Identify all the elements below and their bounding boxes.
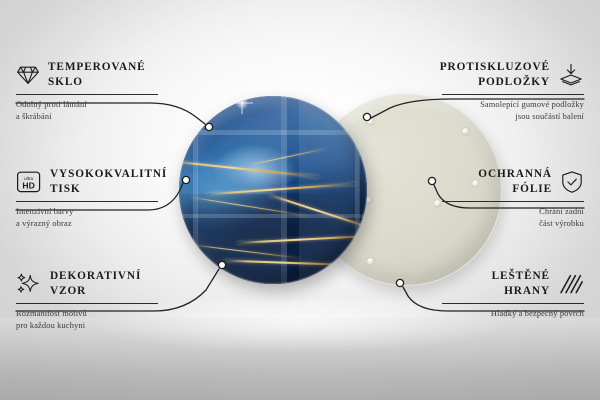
feature-title: LEŠTĚNÉ HRANY	[492, 269, 550, 299]
feature-description: Hladký a bezpečný povrch	[442, 308, 584, 320]
divider	[16, 201, 158, 202]
feature-title: TEMPEROVANÉ SKLO	[48, 60, 146, 90]
feature-header: PROTISKLUZOVÉ PODLOŽKY	[442, 60, 584, 90]
feature-protective-film[interactable]: OCHRANNÁ FÓLIE Chrání zadní část výrobku	[442, 167, 584, 230]
feature-header: TEMPEROVANÉ SKLO	[16, 60, 158, 90]
polished-edges-icon	[558, 272, 584, 296]
feature-header: OCHRANNÁ FÓLIE	[442, 167, 584, 197]
anti-slip-pad-icon	[558, 63, 584, 87]
feature-header: LEŠTĚNÉ HRANY	[442, 269, 584, 299]
sparkles-icon	[16, 272, 42, 296]
feature-anti-slip-pads[interactable]: PROTISKLUZOVÉ PODLOŽKY Samolepící gumové…	[442, 60, 584, 123]
divider	[16, 94, 158, 95]
divider	[16, 303, 158, 304]
feature-description: Odolný proti lámání a škrábání	[16, 99, 158, 123]
feature-title: VYSOKOKVALITNÍ TISK	[50, 167, 167, 197]
feature-header: ultra HD VYSOKOKVALITNÍ TISK	[16, 167, 158, 197]
infographic-canvas: TEMPEROVANÉ SKLO Odolný proti lámání a š…	[0, 0, 600, 400]
feature-decorative-pattern[interactable]: DEKORATIVNÍ VZOR Rozmanitost motivů pro …	[16, 269, 158, 332]
feature-header: DEKORATIVNÍ VZOR	[16, 269, 158, 299]
divider	[442, 303, 584, 304]
feature-title: PROTISKLUZOVÉ PODLOŽKY	[440, 60, 550, 90]
feature-title: DEKORATIVNÍ VZOR	[50, 269, 141, 299]
feature-description: Samolepící gumové podložky jsou součástí…	[442, 99, 584, 123]
feature-polished-edges[interactable]: LEŠTĚNÉ HRANY Hladký a bezpečný povrch	[442, 269, 584, 320]
hd-label: HD	[22, 181, 34, 191]
shield-check-icon	[560, 170, 584, 194]
feature-description: Chrání zadní část výrobku	[442, 206, 584, 230]
feature-tempered-glass[interactable]: TEMPEROVANÉ SKLO Odolný proti lámání a š…	[16, 60, 158, 123]
diamond-icon	[16, 64, 40, 86]
divider	[442, 201, 584, 202]
feature-high-quality-print[interactable]: ultra HD VYSOKOKVALITNÍ TISK Intenzivní …	[16, 167, 158, 230]
divider	[442, 94, 584, 95]
feature-description: Intenzivní barvy a výrazný obraz	[16, 206, 158, 230]
ultra-hd-badge-icon: ultra HD	[16, 170, 42, 194]
feature-title: OCHRANNÁ FÓLIE	[478, 167, 552, 197]
feature-description: Rozmanitost motivů pro každou kuchyni	[16, 308, 158, 332]
